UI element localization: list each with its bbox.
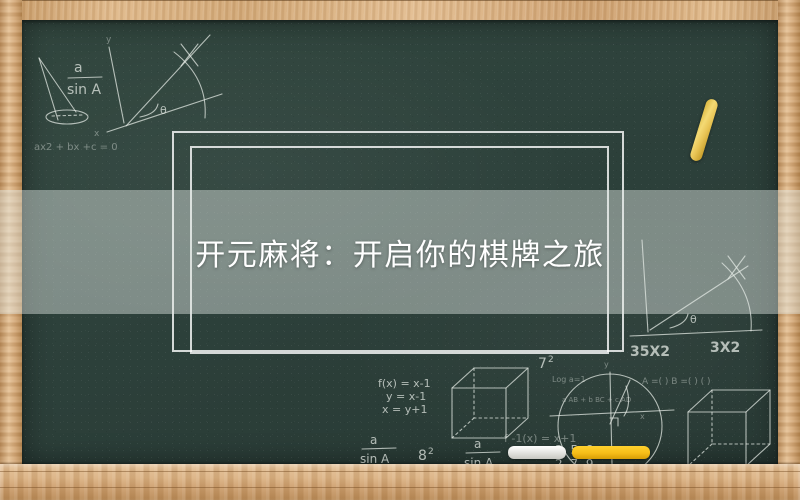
chalk-power-8-base: 8 [418, 448, 427, 464]
chalk-axis-y-right: y [604, 360, 609, 369]
ledge-grain-line-2 [0, 487, 800, 488]
chalk-angle-label-right: θ [690, 313, 697, 326]
ledge-grain-line-1 [0, 471, 800, 472]
chalk-fraction-denominator: sin A [67, 82, 102, 98]
chalk-function-1: f(x) = x-1 [378, 377, 431, 390]
chalk-power-7-base: 7 [538, 356, 547, 372]
chalk-angle-label-left: θ [160, 104, 167, 117]
white-chalk-stick-icon [508, 446, 566, 459]
cube-drawing-center [452, 368, 528, 438]
chalk-axis-y-left: y [106, 35, 112, 45]
chalk-label-3x2: 3X2 [710, 340, 740, 356]
chalk-quadratic-equation: ax2 + bx +c = 0 [34, 142, 118, 153]
chalk-log-label: Log a=1 [552, 375, 586, 384]
headline-container: 开元麻将：开启你的棋牌之旅 [0, 190, 800, 314]
chalkboard-banner: a sin A y x θ ax2 + bx +c = 0 [0, 0, 800, 500]
chalk-power-8-exponent: 2 [428, 447, 434, 457]
wooden-ledge [0, 464, 800, 500]
chalk-fraction-mid-den: sin A [464, 456, 494, 464]
page-title: 开元麻将：开启你的棋牌之旅 [195, 230, 605, 274]
chalk-matrix-expression: A =( ) B =( ) ( ) [642, 377, 711, 387]
chalk-inverse-function: f -1(x) = x+1 [504, 432, 576, 445]
chalk-fraction-left-den: sin A [360, 452, 390, 464]
cube-drawing-right [688, 390, 770, 464]
chalk-function-3: x = y+1 [382, 403, 427, 416]
chalk-axis-x-left: x [94, 129, 100, 139]
chalk-fraction-numerator: a [74, 60, 83, 76]
yellow-chalk-ledge-icon [572, 446, 650, 459]
angle-construction-left [107, 35, 222, 132]
chalk-power-7-exponent: 2 [548, 355, 554, 365]
chalk-label-35x2: 35X2 [630, 344, 670, 360]
chalk-fraction-left-num: a [370, 433, 377, 447]
chalk-function-2: y = x-1 [386, 390, 426, 403]
chalk-fraction-mid-num: a [474, 437, 481, 451]
chalk-vector-expression: a AB + b BC + c AD [562, 396, 631, 404]
chalk-axis-x-right: x [640, 412, 645, 421]
cone-drawing [39, 58, 88, 124]
yellow-chalk-stick-icon [689, 98, 719, 163]
